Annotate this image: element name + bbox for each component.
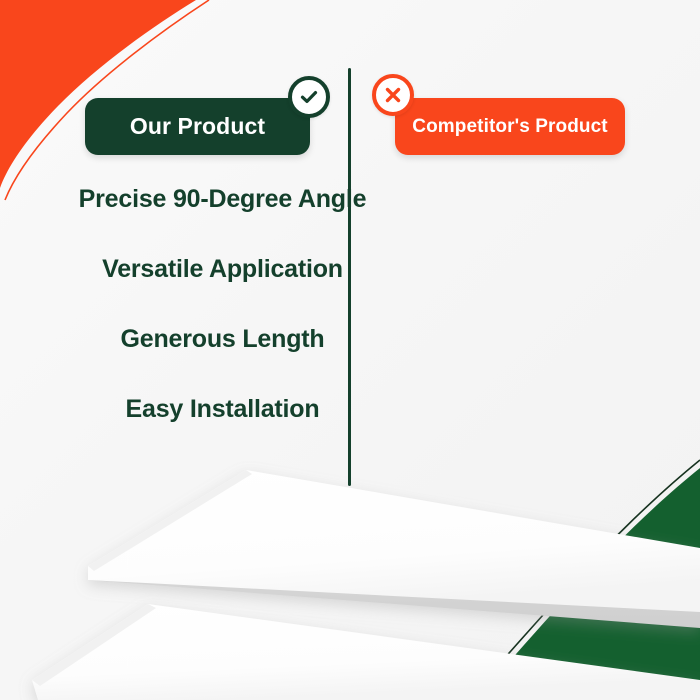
competitor-product-badge-label: Competitor's Product xyxy=(412,116,607,138)
x-circle-icon xyxy=(372,74,414,116)
competitor-product-badge[interactable]: Competitor's Product xyxy=(395,98,625,155)
list-item: Generous Length xyxy=(75,323,370,393)
comparison-infographic: Our Product Competitor's Product Precise… xyxy=(0,0,700,700)
our-product-badge-label: Our Product xyxy=(130,113,265,140)
feature-label: Easy Installation xyxy=(126,393,320,425)
list-item: Precise 90-Degree Angle xyxy=(75,183,370,253)
list-item: Versatile Application xyxy=(75,253,370,323)
comparison-content: Our Product Competitor's Product Precise… xyxy=(0,0,700,700)
our-product-badge[interactable]: Our Product xyxy=(85,98,310,155)
feature-label: Precise 90-Degree Angle xyxy=(79,183,367,215)
feature-label: Versatile Application xyxy=(102,253,343,285)
our-product-feature-list: Precise 90-Degree Angle Versatile Applic… xyxy=(75,183,370,463)
list-item: Easy Installation xyxy=(75,393,370,463)
check-circle-icon xyxy=(288,76,330,118)
feature-label: Generous Length xyxy=(121,323,325,355)
